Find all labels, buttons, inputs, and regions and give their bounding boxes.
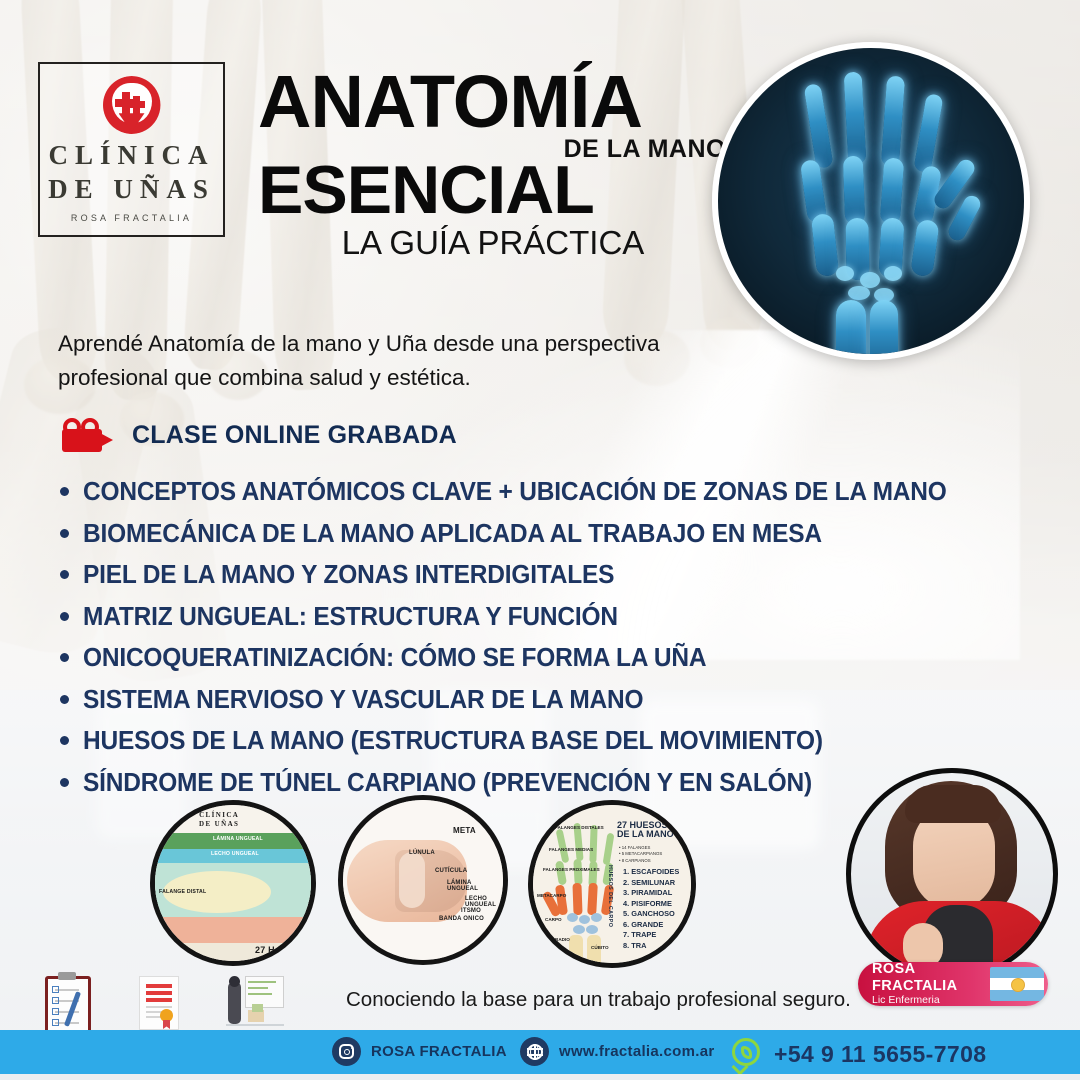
thumb-label: BANDA ONICO bbox=[439, 916, 484, 922]
thumb-bone-label: FALANGES MEDIAS bbox=[549, 847, 593, 852]
page-title: ANATOMÍA DE LA MANO ESENCIAL LA GUÍA PRÁ… bbox=[258, 68, 728, 262]
thumb-title: 27 HUESOSDE LA MANO bbox=[617, 821, 674, 840]
argentina-flag-icon bbox=[990, 967, 1044, 1001]
thumb-label: LÁMINA UNGUEAL bbox=[447, 880, 503, 892]
tagline: Conociendo la base para un trabajo profe… bbox=[346, 988, 851, 1012]
bullet-dot-icon bbox=[60, 736, 69, 745]
thumb-bone-label: CARPO bbox=[545, 917, 562, 922]
orientation-person-icon bbox=[224, 972, 286, 1034]
bullet-dot-icon bbox=[60, 570, 69, 579]
topic-label: SISTEMA NERVIOSO Y VASCULAR DE LA MANO bbox=[83, 686, 643, 715]
thumb-label: ITSMO bbox=[461, 908, 481, 914]
xray-hand-image bbox=[712, 42, 1030, 360]
list-item: ONICOQUERATINIZACIÓN: CÓMO SE FORMA LA U… bbox=[60, 644, 1050, 673]
class-format-label: CLASE ONLINE GRABADA bbox=[132, 421, 457, 450]
instructor-name-badge: ROSA FRACTALIA Lic Enfermeria bbox=[858, 962, 1048, 1006]
thumb-label: LECHO UNGUEAL bbox=[211, 851, 259, 857]
list-item: CONCEPTOS ANATÓMICOS CLAVE + UBICACIÓN D… bbox=[60, 478, 1050, 507]
intro-paragraph: Aprendé Anatomía de la mano y Uña desde … bbox=[58, 327, 738, 395]
thumb-side-label: HUESOS DEL CARPO bbox=[607, 865, 613, 927]
list-item: BIOMECÁNICA DE LA MANO APLICADA AL TRABA… bbox=[60, 520, 1050, 549]
list-item: SISTEMA NERVIOSO Y VASCULAR DE LA MANO bbox=[60, 686, 1050, 715]
class-format-row: CLASE ONLINE GRABADA bbox=[62, 418, 457, 452]
clipboard-exam-icon bbox=[33, 972, 95, 1034]
thumb-label: META bbox=[453, 826, 476, 835]
topic-label: BIOMECÁNICA DE LA MANO APLICADA AL TRABA… bbox=[83, 520, 822, 549]
title-esencial: ESENCIAL bbox=[258, 158, 728, 223]
footer-bar: ROSA FRACTALIA www.fractalia.com.ar +54 … bbox=[0, 1030, 1080, 1074]
brand-logo: CLÍNICA DE UÑAS ROSA FRACTALIA bbox=[38, 62, 225, 237]
poster-canvas: CLÍNICA DE UÑAS ROSA FRACTALIA ANATOMÍA … bbox=[0, 0, 1080, 1080]
fingertip-nail-anatomy-diagram: META LÚNULA CUTÍCULA LÁMINA UNGUEAL LECH… bbox=[338, 795, 508, 965]
thumb-label: LECHO UNGUEAL bbox=[465, 896, 503, 908]
certificate-icon bbox=[125, 972, 187, 1034]
thumb-carpal-list: 1. ESCAFOIDES 2. SEMILUNAR 3. PIRAMIDAL … bbox=[623, 867, 679, 951]
thumb-bone-label: FALANGES PROXIMALES bbox=[543, 867, 600, 872]
topic-label: HUESOS DE LA MANO (ESTRUCTURA BASE DEL M… bbox=[83, 727, 823, 756]
bullet-dot-icon bbox=[60, 487, 69, 496]
hand-bones-diagram: 27 HUESOSDE LA MANO • 14 FALANGES • 5 ME… bbox=[528, 800, 696, 968]
thumb-subitems: • 14 FALANGES • 5 METACARPIANOS • 8 CARP… bbox=[619, 845, 662, 864]
topic-label: MATRIZ UNGUEAL: ESTRUCTURA Y FUNCIÓN bbox=[83, 603, 618, 632]
bullet-dot-icon bbox=[60, 529, 69, 538]
thumb-bone-label: CÚBITO bbox=[591, 945, 609, 950]
list-item: HUESOS DE LA MANO (ESTRUCTURA BASE DEL M… bbox=[60, 727, 1050, 756]
medical-cross-heart-icon bbox=[103, 76, 161, 134]
bullet-dot-icon bbox=[60, 778, 69, 787]
instructor-title: Lic Enfermeria bbox=[872, 994, 990, 1006]
footer-instagram[interactable]: ROSA FRACTALIA bbox=[332, 1037, 507, 1066]
topic-label: CONCEPTOS ANATÓMICOS CLAVE + UBICACIÓN D… bbox=[83, 478, 947, 507]
topic-label: PIEL DE LA MANO Y ZONAS INTERDIGITALES bbox=[83, 561, 614, 590]
website-url: www.fractalia.com.ar bbox=[559, 1043, 715, 1060]
topic-label: SÍNDROME DE TÚNEL CARPIANO (PREVENCIÓN Y… bbox=[83, 769, 812, 798]
globe-icon bbox=[520, 1037, 549, 1066]
video-camera-icon bbox=[62, 418, 114, 452]
topic-label: ONICOQUERATINIZACIÓN: CÓMO SE FORMA LA U… bbox=[83, 644, 706, 673]
thumb-bone-label: METACARPO bbox=[537, 893, 566, 898]
title-guia-practica: LA GUÍA PRÁCTICA bbox=[258, 224, 728, 262]
bullet-dot-icon bbox=[60, 653, 69, 662]
list-item: MATRIZ UNGUEAL: ESTRUCTURA Y FUNCIÓN bbox=[60, 603, 1050, 632]
thumb-bone-label: RADIO bbox=[555, 937, 570, 942]
logo-line-2: DE UÑAS bbox=[48, 174, 215, 206]
instructor-name: ROSA FRACTALIA bbox=[872, 962, 990, 994]
thumb-label: 27 H bbox=[255, 945, 275, 955]
thumb-label: CUTÍCULA bbox=[435, 868, 467, 874]
title-anatomia: ANATOMÍA bbox=[258, 68, 728, 137]
instagram-handle: ROSA FRACTALIA bbox=[371, 1043, 507, 1060]
bullet-dot-icon bbox=[60, 695, 69, 704]
footer-bottom-strip bbox=[0, 1074, 1080, 1080]
thumb-logo: CLÍNICADE UÑAS bbox=[199, 811, 239, 829]
bullet-dot-icon bbox=[60, 612, 69, 621]
footer-whatsapp[interactable]: +54 9 11 5655-7708 bbox=[730, 1037, 986, 1071]
thumb-bone-label: FALANGES DISTALES bbox=[555, 825, 604, 830]
whatsapp-number: +54 9 11 5655-7708 bbox=[774, 1041, 986, 1068]
instructor-portrait bbox=[846, 768, 1058, 980]
logo-line-1: CLÍNICA bbox=[48, 140, 214, 172]
thumb-label: FALANGE DISTAL bbox=[159, 889, 206, 895]
list-item: PIEL DE LA MANO Y ZONAS INTERDIGITALES bbox=[60, 561, 1050, 590]
whatsapp-icon bbox=[730, 1037, 764, 1071]
nail-cross-section-diagram: CLÍNICADE UÑAS FALANGE DISTAL LÁMINA UNG… bbox=[150, 800, 316, 966]
footer-website[interactable]: www.fractalia.com.ar bbox=[520, 1037, 715, 1066]
topics-list: CONCEPTOS ANATÓMICOS CLAVE + UBICACIÓN D… bbox=[60, 478, 1050, 810]
logo-sub: ROSA FRACTALIA bbox=[71, 213, 192, 223]
thumb-label: LÚNULA bbox=[409, 850, 435, 856]
instagram-icon bbox=[332, 1037, 361, 1066]
thumb-label: LÁMINA UNGUEAL bbox=[213, 836, 263, 842]
